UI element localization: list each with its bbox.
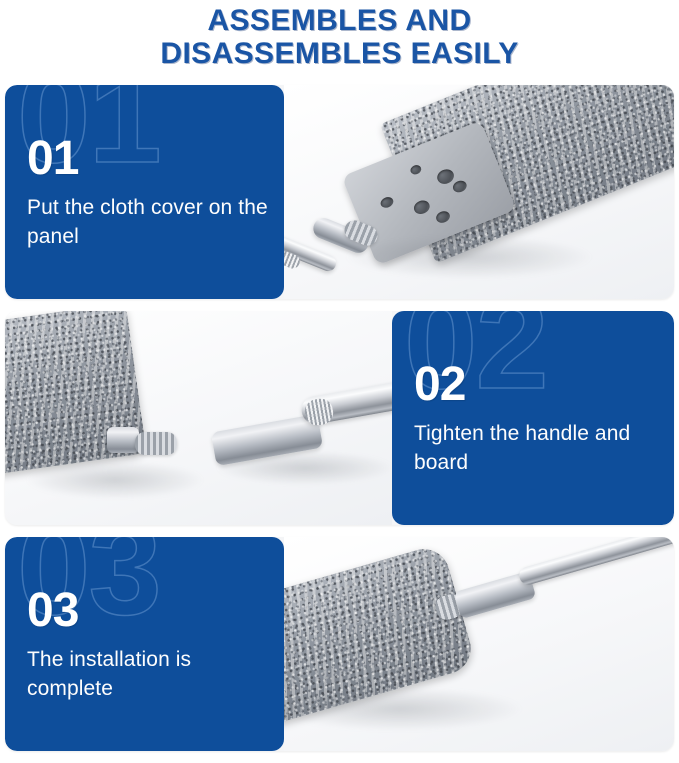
page-title-line-2: DISASSEMBLES EASILY [0,37,679,70]
step-number-02: 02 [414,361,465,409]
product-shadow [284,687,524,731]
cloth-texture-icon [5,311,147,479]
step-info-03: 03 03 The installation is complete [5,537,284,751]
step-description-02: Tighten the handle and board [414,419,660,477]
step-card-01: 01 01 Put the cloth cover on the panel [5,85,674,299]
step-info-01: 01 01 Put the cloth cover on the panel [5,85,284,299]
product-shadow [344,235,594,279]
step-card-02: 02 02 Tighten the handle and board [5,311,674,525]
step-photo-01 [284,85,674,299]
step-photo-02 [5,311,392,525]
step-card-03: 03 03 The installation is complete [5,537,674,751]
step-number-01: 01 [27,135,78,183]
board-hole-icon [434,209,451,224]
step-list: 01 01 Put the cloth cover on the panel [0,85,679,763]
step-info-02: 02 02 Tighten the handle and board [392,311,674,525]
page-title: ASSEMBLES AND DISASSEMBLES EASILY [0,0,679,70]
board-hole-icon [451,179,468,194]
board-hole-icon [379,195,395,209]
board-hole-icon [412,198,432,216]
step-description-03: The installation is complete [27,645,273,703]
board-hole-icon [409,164,423,176]
step-photo-03 [284,537,674,751]
page-title-line-1: ASSEMBLES AND [0,4,679,37]
step-number-03: 03 [27,587,78,635]
step-description-01: Put the cloth cover on the panel [27,193,273,251]
product-shadow [215,451,392,485]
threaded-screw-icon [135,432,177,455]
product-shadow [25,461,205,499]
